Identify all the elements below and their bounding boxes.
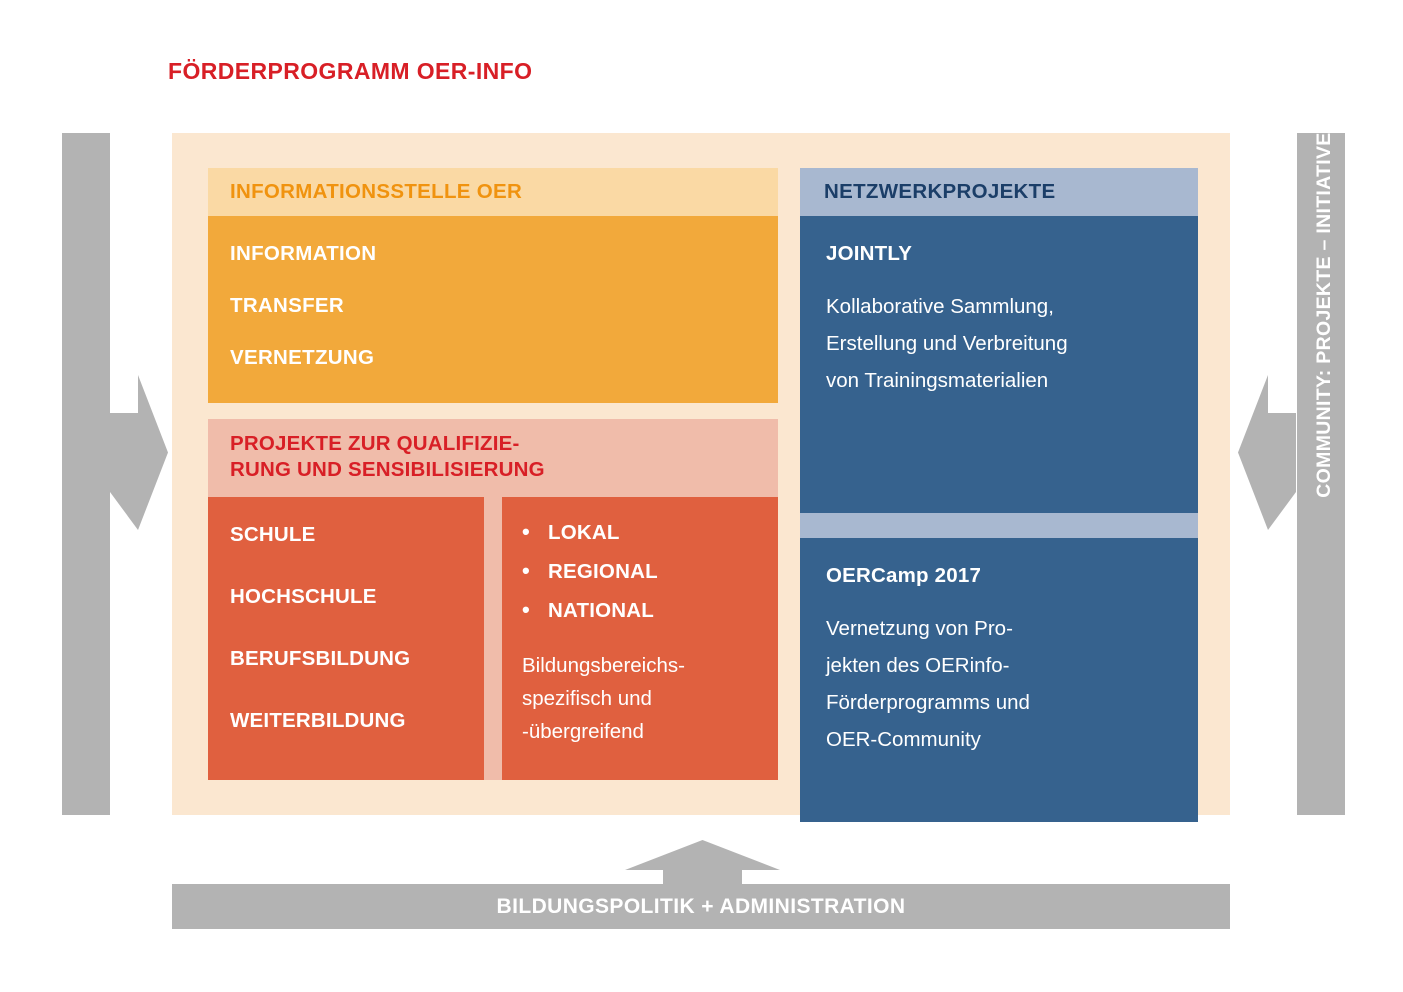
network-card-divider bbox=[800, 513, 1198, 538]
page-title: FÖRDERPROGRAMM OER-INFO bbox=[168, 58, 532, 85]
network-card-text: Vernetzung von Pro- jekten des OERinfo- … bbox=[826, 610, 1172, 758]
list-item: • NATIONAL bbox=[522, 599, 758, 623]
bullet-icon: • bbox=[522, 599, 548, 621]
program-container: INFORMATIONSSTELLE OER INFORMATION TRANS… bbox=[172, 133, 1230, 815]
bottom-context-label: BILDUNGSPOLITIK + ADMINISTRATION bbox=[497, 895, 906, 919]
list-item: INFORMATION bbox=[230, 242, 756, 266]
netzwerkprojekte-title: NETZWERKPROJEKTE bbox=[824, 180, 1055, 204]
list-item: VERNETZUNG bbox=[230, 346, 756, 370]
qualifizierung-note: Bildungsbereichs- spezifisch und -übergr… bbox=[522, 649, 758, 748]
network-card-title: OERCamp 2017 bbox=[826, 564, 1172, 588]
informationsstelle-title: INFORMATIONSSTELLE OER bbox=[230, 180, 522, 204]
network-card-text: Kollaborative Sammlung, Erstellung und V… bbox=[826, 288, 1172, 399]
bullet-icon: • bbox=[522, 560, 548, 582]
list-item-label: LOKAL bbox=[548, 521, 620, 545]
qualifizierung-body: SCHULE HOCHSCHULE BERUFSBILDUNG WEITERBI… bbox=[208, 497, 778, 780]
qualifizierung-block: PROJEKTE ZUR QUALIFIZIE- RUNG UND SENSIB… bbox=[208, 419, 778, 780]
network-card-title: JOINTLY bbox=[826, 242, 1172, 266]
left-column: INFORMATIONSSTELLE OER INFORMATION TRANS… bbox=[208, 168, 778, 780]
qualifizierung-title: PROJEKTE ZUR QUALIFIZIE- RUNG UND SENSIB… bbox=[230, 431, 756, 483]
informationsstelle-header: INFORMATIONSSTELLE OER bbox=[208, 168, 778, 216]
left-inbound-arrow-icon bbox=[110, 375, 168, 530]
list-item: SCHULE bbox=[230, 523, 462, 547]
bullet-icon: • bbox=[522, 521, 548, 543]
right-column: NETZWERKPROJEKTE JOINTLY Kollaborative S… bbox=[800, 168, 1198, 822]
qualifizierung-education-levels: SCHULE HOCHSCHULE BERUFSBILDUNG WEITERBI… bbox=[208, 497, 484, 780]
list-item: HOCHSCHULE bbox=[230, 585, 462, 609]
left-context-label: OPEN SCIENCE– WISSENSCHAFT UND FORSCHUNG bbox=[33, 123, 56, 805]
list-item: • REGIONAL bbox=[522, 560, 758, 584]
list-item: TRANSFER bbox=[230, 294, 756, 318]
list-item: WEITERBILDUNG bbox=[230, 709, 462, 733]
left-context-bar bbox=[62, 133, 110, 815]
list-item: • LOKAL bbox=[522, 521, 758, 545]
list-item: BERUFSBILDUNG bbox=[230, 647, 462, 671]
network-card-oercamp: OERCamp 2017 Vernetzung von Pro- jekten … bbox=[800, 538, 1198, 822]
network-card-jointly: JOINTLY Kollaborative Sammlung, Erstellu… bbox=[800, 216, 1198, 513]
netzwerkprojekte-header: NETZWERKPROJEKTE bbox=[800, 168, 1198, 216]
informationsstelle-body: INFORMATION TRANSFER VERNETZUNG bbox=[208, 216, 778, 403]
bottom-context-bar: BILDUNGSPOLITIK + ADMINISTRATION bbox=[172, 884, 1230, 929]
list-item-label: NATIONAL bbox=[548, 599, 654, 623]
qualifizierung-scopes: • LOKAL • REGIONAL • NATIONAL Bildungsbe… bbox=[502, 497, 778, 780]
column-divider bbox=[484, 497, 502, 780]
list-item-label: REGIONAL bbox=[548, 560, 658, 584]
qualifizierung-header: PROJEKTE ZUR QUALIFIZIE- RUNG UND SENSIB… bbox=[208, 419, 778, 497]
right-context-label: COMMUNITY: PROJEKTE – INITIATIVEN bbox=[1313, 118, 1336, 800]
informationsstelle-block: INFORMATIONSSTELLE OER INFORMATION TRANS… bbox=[208, 168, 778, 403]
right-inbound-arrow-icon bbox=[1238, 375, 1296, 530]
